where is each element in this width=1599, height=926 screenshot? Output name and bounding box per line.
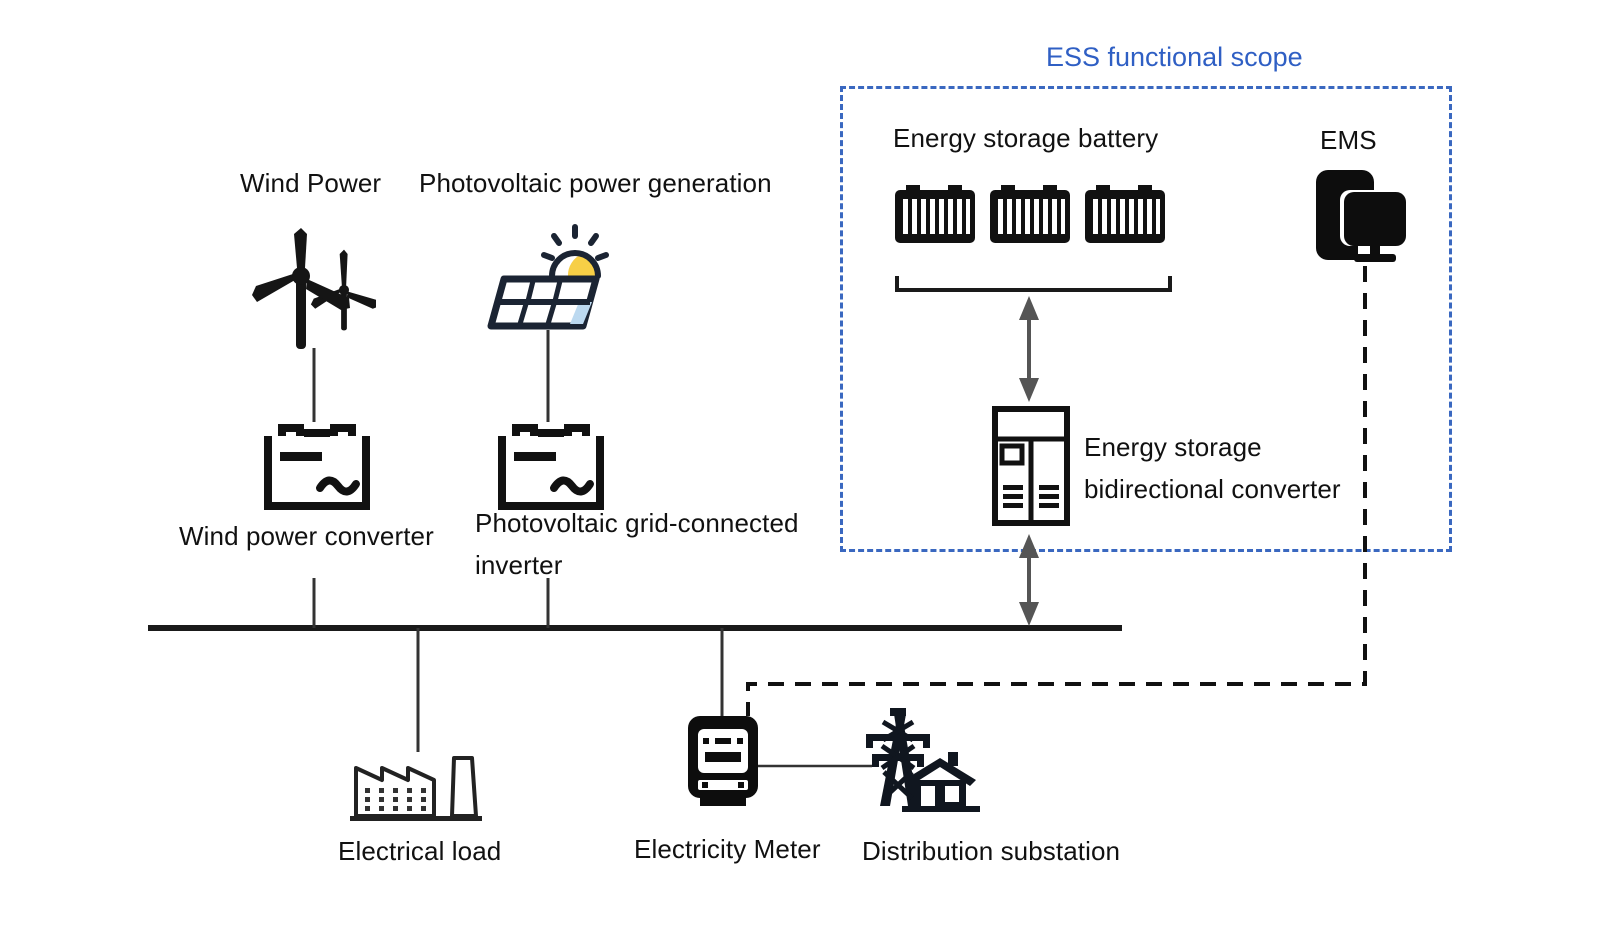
wind-turbine-icon (252, 228, 376, 352)
label-wind-power-converter: Wind power converter (179, 516, 434, 556)
converter-box-icon-pv (496, 422, 606, 512)
label-pv-inverter-line2: inverter (475, 545, 563, 585)
converter-box-icon-wind (262, 422, 372, 512)
solar-panel-icon (482, 222, 616, 334)
ems-computer-icon (1310, 164, 1412, 266)
diagram-canvas: ESS functional scope Wind Power Photovol… (0, 0, 1599, 926)
label-distribution-substation: Distribution substation (862, 831, 1120, 871)
ess-scope-title: ESS functional scope (1046, 40, 1303, 74)
battery-module-icon-2 (987, 180, 1073, 246)
electricity-meter-icon (686, 714, 760, 810)
label-electrical-load: Electrical load (338, 831, 501, 871)
label-pv-generation: Photovoltaic power generation (419, 163, 772, 203)
battery-module-icon-1 (892, 180, 978, 246)
label-wind-power: Wind Power (240, 163, 381, 203)
ess-scope-boundary (840, 86, 1452, 552)
factory-icon (348, 750, 484, 822)
label-electricity-meter: Electricity Meter (634, 829, 821, 869)
battery-module-icon-3 (1082, 180, 1168, 246)
cabinet-converter-icon (992, 406, 1070, 526)
substation-tower-house-icon (856, 706, 986, 818)
